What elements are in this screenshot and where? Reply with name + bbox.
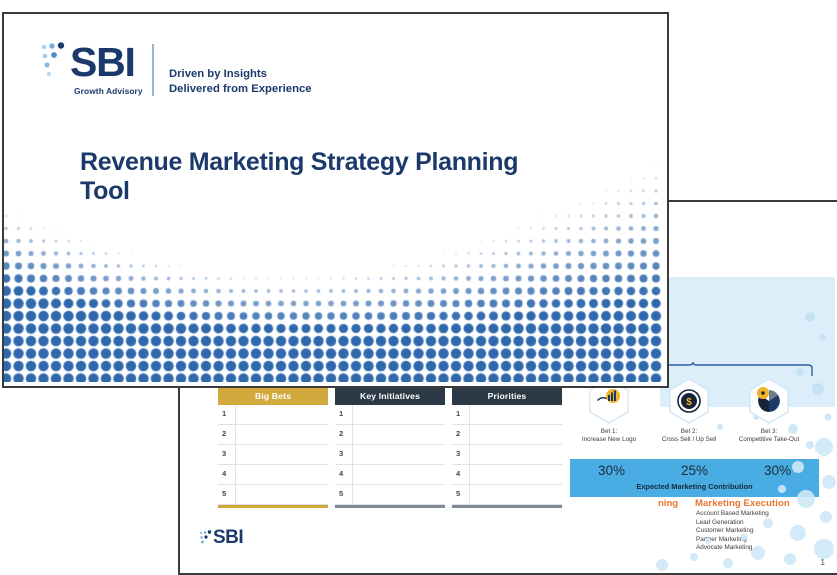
title-slide[interactable]: SBI Growth Advisory Driven by Insights D…: [2, 12, 669, 388]
row-cell[interactable]: [352, 485, 445, 504]
execution-item: Account Based Marketing: [696, 510, 769, 519]
execution-item: Customer Marketing: [696, 527, 769, 536]
bet-title: Bet 3:: [721, 428, 817, 436]
table-row[interactable]: 5: [452, 485, 562, 505]
table-row[interactable]: 2: [218, 425, 328, 445]
table-priorities[interactable]: Priorities 1 2 3 4 5: [452, 388, 562, 508]
row-number: 1: [456, 409, 460, 418]
table-row[interactable]: 4: [218, 465, 328, 485]
row-number: 4: [222, 469, 226, 478]
execution-partial-heading: ning: [658, 498, 678, 509]
table-row[interactable]: 5: [218, 485, 328, 505]
sbi-dot-matrix-icon: [199, 530, 213, 548]
bet-label-3: Bet 3: Competitive Take-Out: [721, 428, 817, 444]
row-cell[interactable]: [352, 445, 445, 464]
table-footer-rule: [452, 505, 562, 508]
table-footer-rule: [335, 505, 445, 508]
bet-hexagon-3[interactable]: [748, 378, 790, 424]
footer-logo-wordmark: SBI: [213, 527, 243, 548]
row-cell[interactable]: [352, 425, 445, 444]
sbi-dot-matrix-icon: [40, 41, 68, 81]
row-number: 1: [339, 409, 343, 418]
row-number: 4: [339, 469, 343, 478]
page-number: 1: [821, 558, 825, 567]
deck-title: Revenue Marketing Strategy Planning Tool: [80, 148, 550, 206]
row-cell[interactable]: [469, 405, 562, 424]
row-number: 1: [222, 409, 226, 418]
row-cell[interactable]: [235, 425, 328, 444]
table-header: Priorities: [452, 388, 562, 405]
bet-hexagon-2[interactable]: $: [668, 378, 710, 424]
table-row[interactable]: 4: [335, 465, 445, 485]
table-header: Key Initiatives: [335, 388, 445, 405]
table-big-bets[interactable]: Big Bets 1 2 3 4 5: [218, 388, 328, 508]
table-row[interactable]: 2: [452, 425, 562, 445]
tagline-line-1: Driven by Insights: [169, 67, 312, 82]
contribution-percent: 30%: [736, 463, 819, 478]
table-row[interactable]: 3: [218, 445, 328, 465]
row-cell[interactable]: [235, 485, 328, 504]
row-number: 2: [456, 429, 460, 438]
footer-logo: SBI: [213, 527, 243, 549]
contribution-values: 30% 25% 30%: [570, 463, 819, 478]
execution-item: Advocate Marketing: [696, 544, 769, 553]
row-number: 5: [456, 489, 460, 498]
execution-items: Account Based Marketing Lead Generation …: [696, 510, 769, 553]
table-row[interactable]: 2: [335, 425, 445, 445]
logo-divider: [152, 44, 154, 96]
table-row[interactable]: 1: [452, 405, 562, 425]
bet-desc: Competitive Take-Out: [721, 436, 817, 444]
tagline: Driven by Insights Delivered from Experi…: [169, 67, 312, 96]
table-footer-rule: [218, 505, 328, 508]
contribution-caption: Expected Marketing Contribution: [570, 482, 819, 491]
table-row[interactable]: 5: [335, 485, 445, 505]
row-cell[interactable]: [469, 465, 562, 484]
row-cell[interactable]: [235, 465, 328, 484]
table-row[interactable]: 3: [452, 445, 562, 465]
table-row[interactable]: 1: [335, 405, 445, 425]
row-number: 2: [222, 429, 226, 438]
contribution-percent: 30%: [570, 463, 653, 478]
row-cell[interactable]: [235, 405, 328, 424]
row-number: 2: [339, 429, 343, 438]
logo-wordmark: SBI: [70, 42, 135, 83]
table-row[interactable]: 3: [335, 445, 445, 465]
execution-item: Lead Generation: [696, 519, 769, 528]
row-number: 3: [456, 449, 460, 458]
row-number: 3: [339, 449, 343, 458]
row-cell[interactable]: [352, 465, 445, 484]
svg-text:$: $: [686, 397, 692, 408]
row-cell[interactable]: [469, 445, 562, 464]
logo-subtitle: Growth Advisory: [74, 86, 143, 96]
row-cell[interactable]: [469, 425, 562, 444]
table-key-initiatives[interactable]: Key Initiatives 1 2 3 4 5: [335, 388, 445, 508]
row-cell[interactable]: [235, 445, 328, 464]
row-number: 4: [456, 469, 460, 478]
execution-heading: Marketing Execution: [695, 498, 790, 509]
table-row[interactable]: 1: [218, 405, 328, 425]
row-number: 5: [339, 489, 343, 498]
row-cell[interactable]: [352, 405, 445, 424]
row-number: 5: [222, 489, 226, 498]
contribution-percent: 25%: [653, 463, 736, 478]
table-row[interactable]: 4: [452, 465, 562, 485]
table-header: Big Bets: [218, 388, 328, 405]
execution-item: Partner Marketing: [696, 536, 769, 545]
tagline-line-2: Delivered from Experience: [169, 82, 312, 97]
row-cell[interactable]: [469, 485, 562, 504]
row-number: 3: [222, 449, 226, 458]
expected-contribution-bar: 30% 25% 30% Expected Marketing Contribut…: [570, 459, 819, 497]
